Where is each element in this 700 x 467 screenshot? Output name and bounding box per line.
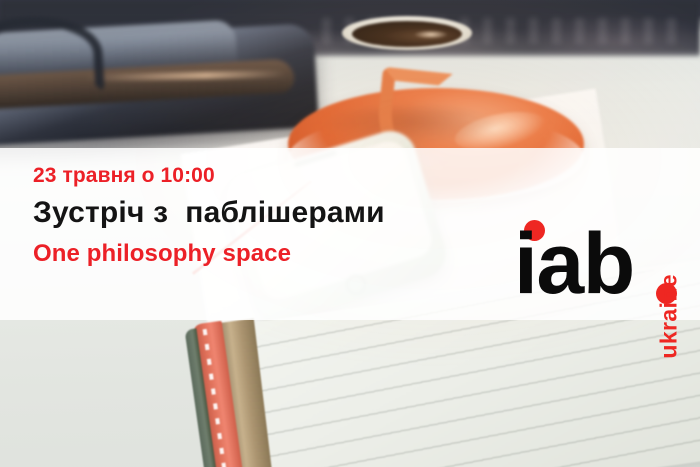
event-banner: 23 травня о 10:00 Зустріч з паблішерами … bbox=[0, 0, 700, 467]
iab-wordmark: iab bbox=[514, 231, 634, 298]
event-datetime: 23 травня о 10:00 bbox=[33, 164, 215, 188]
ukraine-wordmark: ukraine bbox=[656, 274, 683, 359]
event-tagline: One philosophy space bbox=[33, 240, 291, 268]
iab-ukraine-logo: iab ukraine bbox=[512, 158, 688, 308]
text-band-inner: 23 травня о 10:00 Зустріч з паблішерами … bbox=[0, 148, 700, 320]
coffee-highlight bbox=[414, 30, 448, 39]
text-band: 23 травня о 10:00 Зустріч з паблішерами … bbox=[0, 148, 700, 320]
event-title: Зустріч з паблішерами bbox=[33, 196, 385, 230]
bag-strap bbox=[0, 13, 105, 101]
